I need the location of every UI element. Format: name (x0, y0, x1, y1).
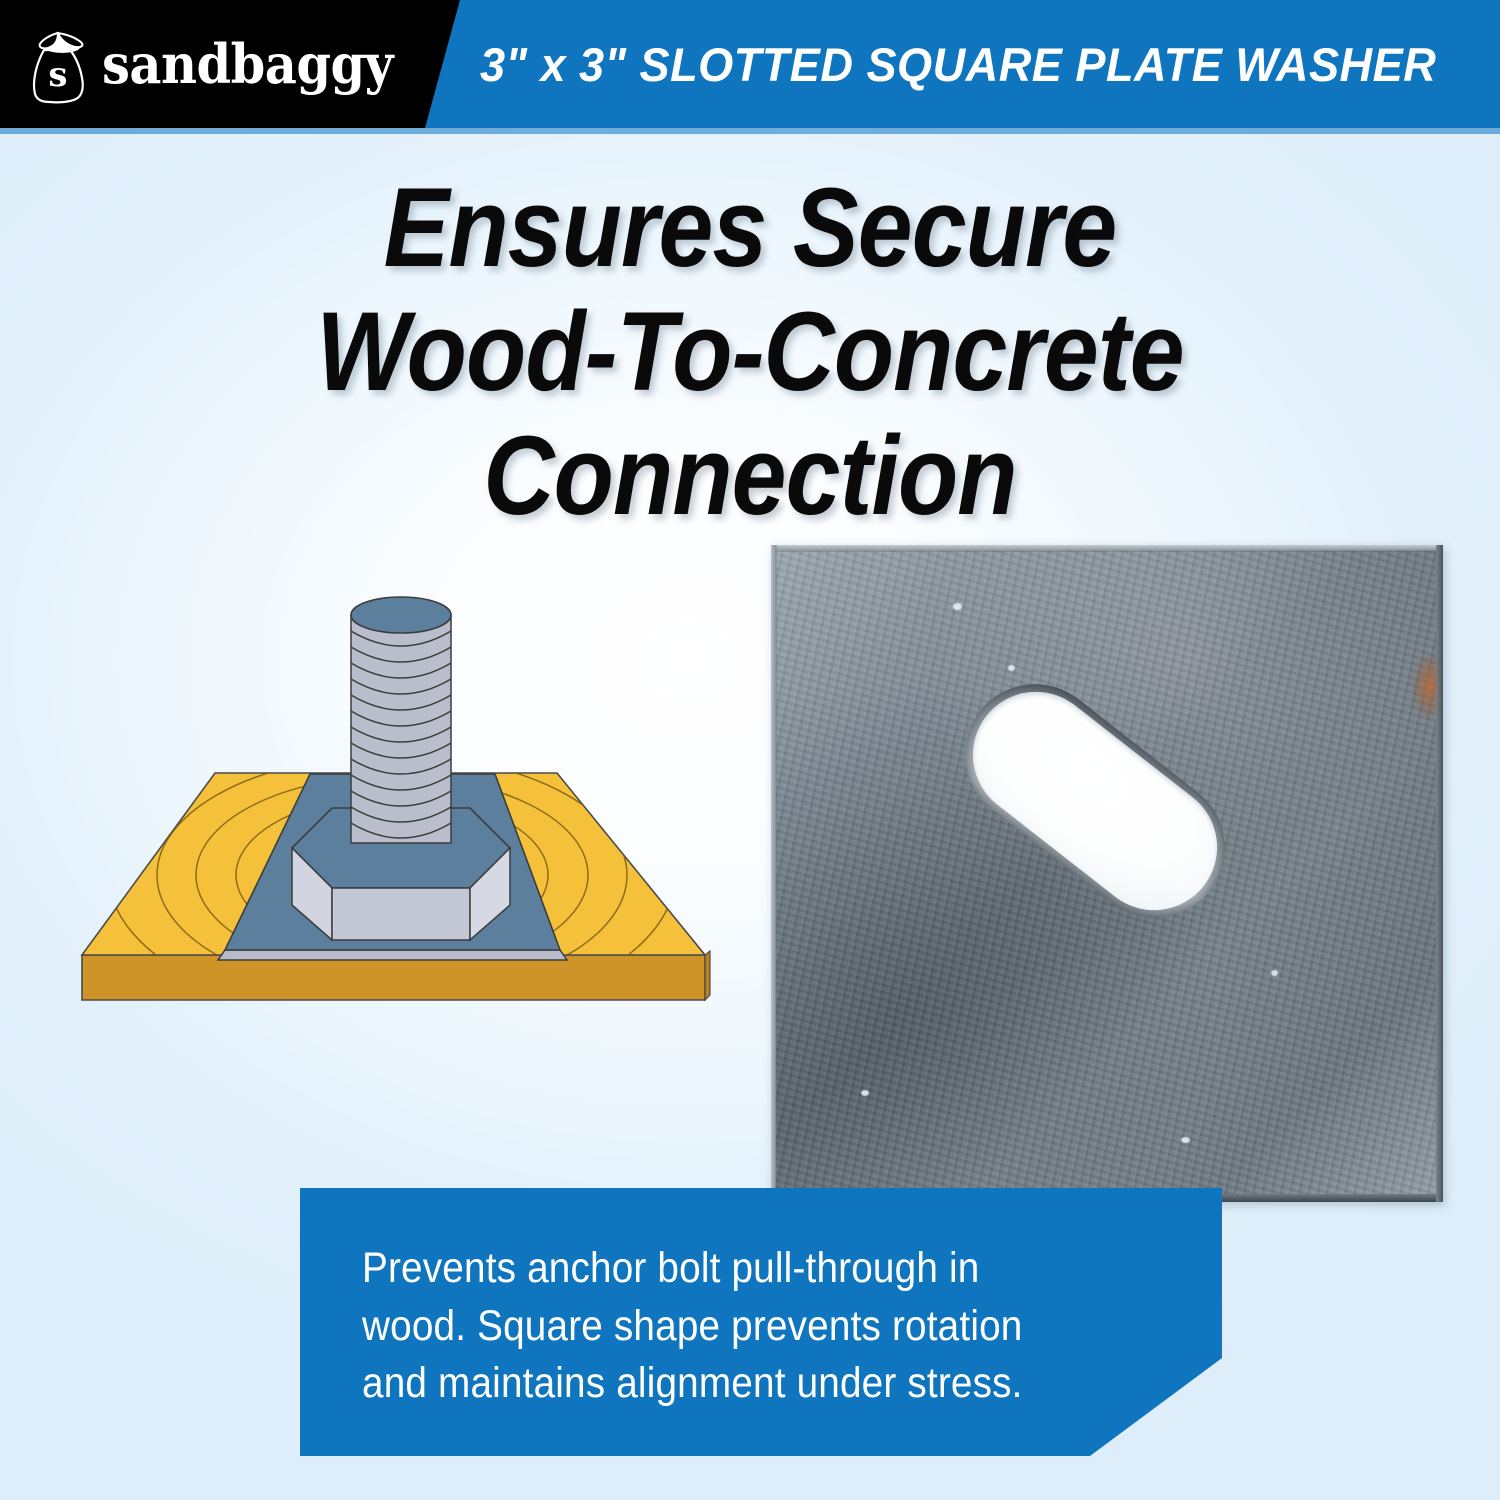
sandbag-icon: s (28, 24, 90, 104)
photo-edge-left (771, 545, 777, 1202)
headline-line-1: Ensures Secure (90, 172, 1410, 284)
product-title-banner: 3" x 3" SLOTTED SQUARE PLATE WASHER (480, 0, 1476, 128)
brand-logo-block: s sandbaggy (28, 18, 387, 110)
photo-speck (953, 603, 962, 610)
header-underline (0, 128, 1500, 134)
photo-speck (1271, 970, 1278, 976)
brand-name: sandbaggy (102, 37, 393, 91)
photo-edge-right (1436, 545, 1443, 1202)
headline-line-2: Wood-To-Concrete (90, 296, 1410, 408)
caption-text: Prevents anchor bolt pull-through in woo… (362, 1240, 1084, 1413)
product-infographic-page: s sandbaggy 3" x 3" SLOTTED SQUARE PLATE… (0, 0, 1500, 1500)
header-banner: s sandbaggy 3" x 3" SLOTTED SQUARE PLATE… (0, 0, 1500, 128)
photo-rust-spot (1413, 655, 1437, 717)
headline: Ensures Secure Wood-To-Concrete Connecti… (0, 172, 1500, 544)
bolt-washer-wood-assembly-diagram (70, 575, 770, 1145)
washer-slot-hole (937, 656, 1253, 946)
product-title-text: 3" x 3" SLOTTED SQUARE PLATE WASHER (480, 37, 1436, 92)
galvanized-square-plate-washer-photo (771, 545, 1443, 1202)
photo-speck (1181, 1137, 1190, 1143)
caption-box: Prevents anchor bolt pull-through in woo… (300, 1188, 1222, 1456)
photo-speck (861, 1090, 869, 1096)
photo-edge-top (771, 545, 1443, 552)
svg-text:s: s (48, 55, 67, 95)
headline-line-3: Connection (90, 420, 1410, 532)
